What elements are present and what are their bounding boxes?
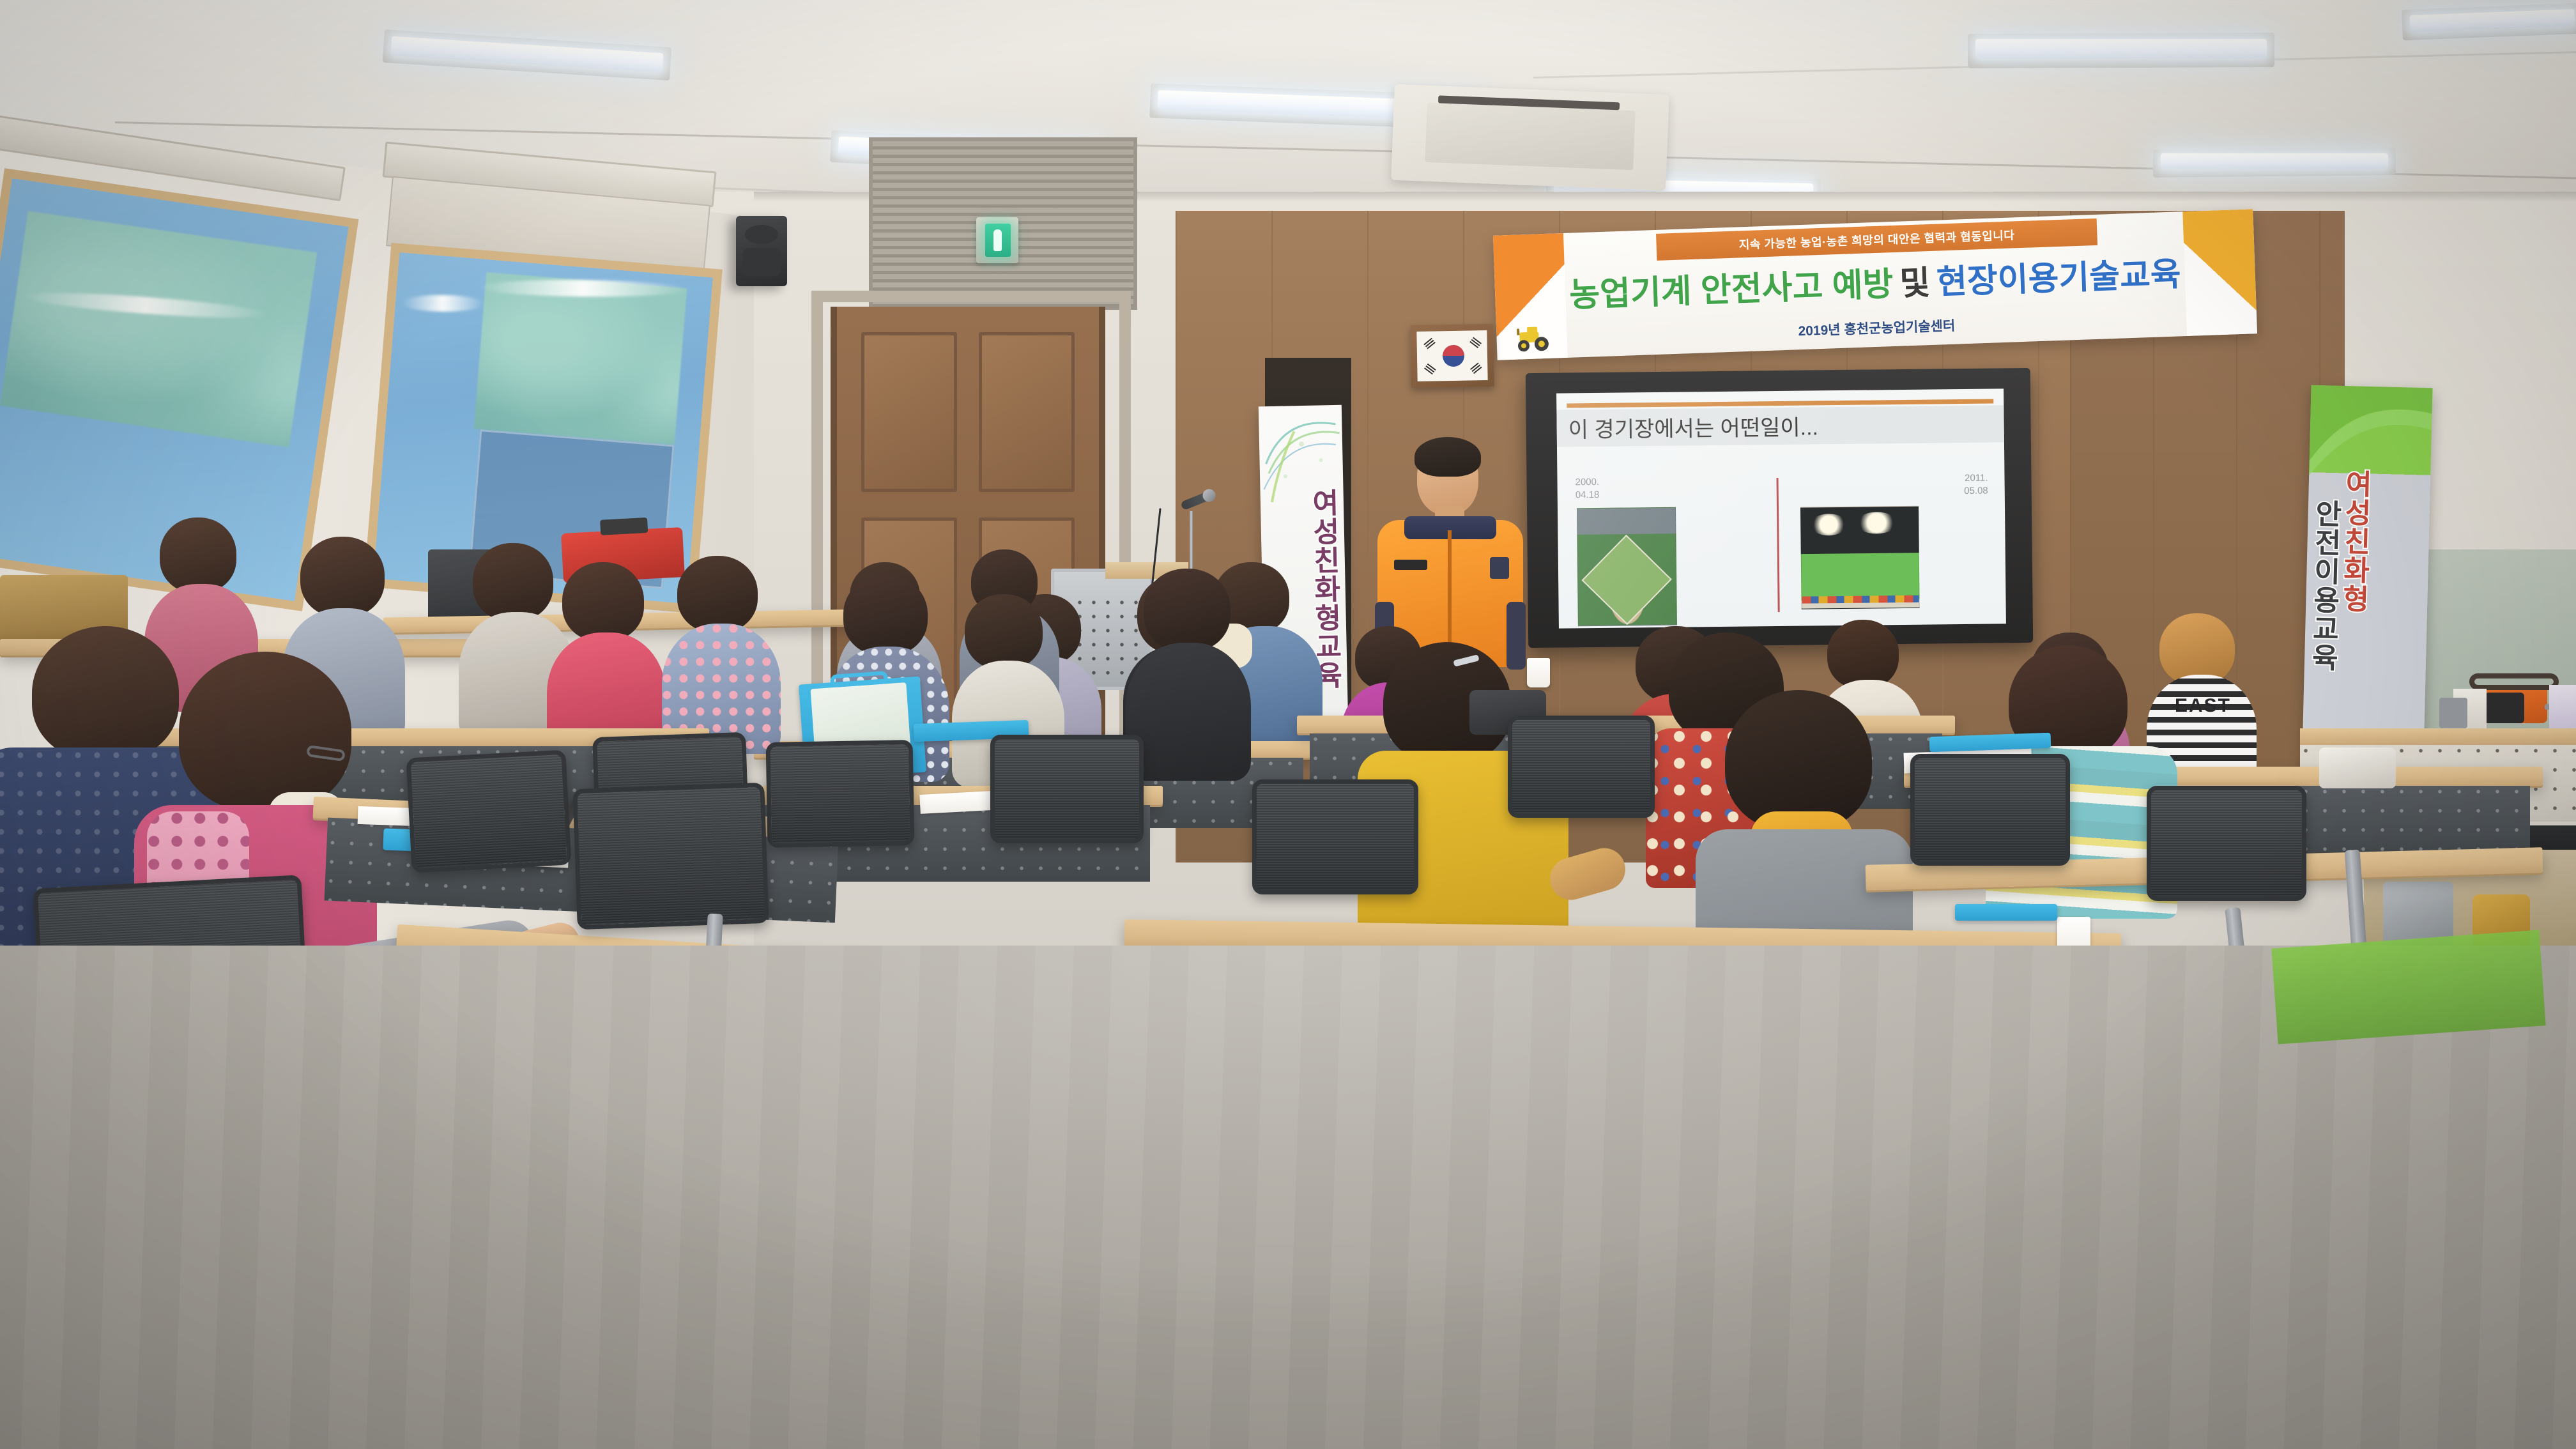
slide-divider bbox=[1777, 478, 1780, 612]
slide-image-stadium-night bbox=[1800, 506, 1920, 609]
chair[interactable] bbox=[406, 750, 571, 873]
chair[interactable] bbox=[1910, 754, 2070, 866]
chair[interactable] bbox=[990, 735, 1144, 843]
ceiling-light bbox=[1975, 39, 2267, 58]
equipment-part bbox=[2439, 698, 2467, 728]
green-mat bbox=[2271, 930, 2545, 1045]
uniform-zipper bbox=[1448, 530, 1452, 658]
exit-sign-housing bbox=[976, 217, 1018, 263]
slide-image-stadium-day bbox=[1577, 507, 1677, 627]
emergency-exit-sign bbox=[985, 224, 1011, 257]
banner-title-green: 농업기계 안전사고 예방 bbox=[1568, 268, 1894, 312]
standee-right-text-dark: 안전이용교육 bbox=[2308, 499, 2340, 672]
slide-date-right: 2011.05.08 bbox=[1964, 472, 1988, 498]
uniform-nametag bbox=[1394, 560, 1427, 570]
slide-title: 이 경기장에서는 어떤일이... bbox=[1568, 410, 1818, 443]
uniform-side-panel bbox=[1506, 602, 1526, 670]
wall-speaker bbox=[736, 216, 787, 286]
instructor-hair bbox=[1414, 437, 1481, 477]
crumpled-cloth bbox=[2319, 747, 2396, 788]
event-banner: 지속 가능한 농업·농촌 희망의 대안은 협력과 협동입니다 농업기계 안전사고… bbox=[1493, 209, 2257, 360]
banner-title-black: 및 bbox=[1899, 266, 1931, 301]
ceiling-cassette-ac bbox=[1391, 84, 1669, 190]
chair[interactable] bbox=[2147, 786, 2306, 901]
chair[interactable] bbox=[1252, 779, 1418, 894]
banner-title-blue: 현장이용기술교육 bbox=[1936, 257, 2181, 299]
taeguk-circle bbox=[1443, 345, 1465, 367]
flag-frame bbox=[1410, 324, 1494, 388]
floor bbox=[0, 946, 2576, 1449]
banner-strip-text: 지속 가능한 농업·농촌 희망의 대안은 협력과 협동입니다 bbox=[1738, 226, 2015, 252]
projection-screen: 이 경기장에서는 어떤일이... 2000.04.18 2011.05.08 bbox=[1526, 368, 2033, 648]
tractor-icon bbox=[1508, 323, 1558, 353]
slide-date-left: 2000.04.18 bbox=[1575, 476, 1599, 502]
chair[interactable] bbox=[1508, 716, 1655, 818]
chair[interactable] bbox=[766, 740, 915, 848]
standee-right: 여성친화형 안전이용교육 bbox=[2301, 385, 2432, 784]
classroom-photo-scene: 지속 가능한 농업·농촌 희망의 대안은 협력과 협동입니다 농업기계 안전사고… bbox=[0, 0, 2576, 1449]
uniform-patch bbox=[1490, 557, 1509, 579]
standee-right-text-red: 여성친화형 bbox=[2339, 469, 2370, 613]
shirt-text-east: EAST bbox=[2175, 695, 2231, 717]
taegukgi-flag bbox=[1416, 330, 1487, 381]
paper-cup bbox=[1527, 658, 1550, 687]
chair[interactable] bbox=[572, 783, 769, 930]
ceiling-light bbox=[2161, 153, 2388, 169]
presentation-slide: 이 경기장에서는 어떤일이... 2000.04.18 2011.05.08 bbox=[1556, 388, 2006, 628]
blue-folder[interactable] bbox=[1955, 904, 2057, 921]
equipment-box bbox=[2549, 685, 2576, 728]
